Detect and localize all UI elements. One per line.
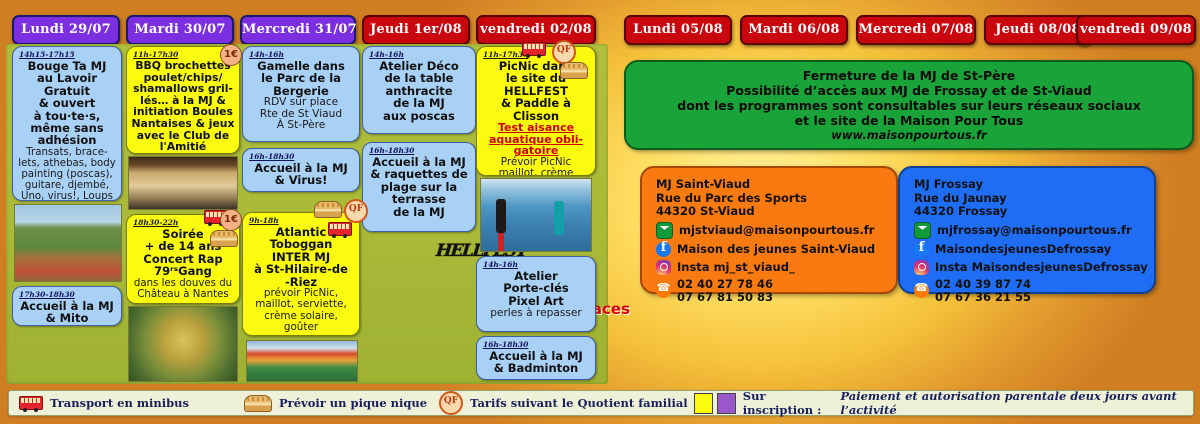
mail-icon (914, 222, 931, 239)
contact-phone-1: 02 40 39 87 74 (935, 278, 1031, 291)
day-chip-jeudi-1er08[interactable]: Jeudi 1er/08 (362, 15, 470, 45)
mail-icon (656, 222, 673, 239)
activity-subtitle: Transats, brace-lets, athebas, body pain… (16, 147, 118, 201)
contact-phone-2: 07 67 36 21 55 (935, 291, 1031, 304)
instagram-icon (914, 260, 929, 275)
activity-title: BBQ brochettes poulet/chips/ shamallows … (130, 60, 236, 153)
notice-line-4: et le site de la Maison Pour Tous (795, 113, 1024, 128)
contact-phone-1: 02 40 27 78 46 (677, 278, 773, 291)
closure-notice-panel: Fermeture de la MJ de St-Père Possibilit… (624, 60, 1194, 150)
contact-phone-row[interactable]: 02 40 39 87 74 07 67 36 21 55 (914, 278, 1154, 304)
activity-card-gamelle-bergerie[interactable]: 14h-16h Gamelle dans le Parc de la Berge… (242, 46, 360, 142)
activity-subtitle: dans les douves du Château à Nantes (130, 278, 236, 300)
picnic-sandwich-icon (560, 62, 588, 79)
contact-email-row[interactable]: mjfrossay@maisonpourtous.fr (914, 222, 1154, 239)
day-chip-mercredi-0708[interactable]: Mercredi 07/08 (856, 15, 976, 45)
day-chip-vendredi-0208[interactable]: vendredi 02/08 (476, 15, 596, 45)
facebook-icon (656, 242, 671, 257)
legend-qf-label: Tarifs suivant le Quotient familial (470, 396, 688, 410)
activity-time: 16h-18h30 (369, 146, 472, 155)
photo-paddle (480, 178, 592, 252)
activity-time: 16h-18h30 (249, 152, 356, 161)
day-chip-mardi-3007[interactable]: Mardi 30/07 (126, 15, 234, 45)
activity-time: 17h30-18h30 (19, 290, 118, 299)
legend-item-qf: QF Tarifs suivant le Quotient familial (439, 391, 688, 415)
activity-card-atelier-deco[interactable]: 14h-16h Atelier Déco de la table anthrac… (362, 46, 476, 134)
qf-badge-icon: QF (552, 40, 576, 64)
contact-card-mj-saint-viaud: MJ Saint-Viaud Rue du Parc des Sports 44… (640, 166, 898, 294)
activity-title: Atelier Déco de la table anthracite de l… (366, 60, 472, 122)
contact-instagram: Insta MaisondesjeunesDefrossay (935, 261, 1148, 274)
legend-inscription-label: Sur inscription : (743, 389, 837, 417)
activity-title: Gamelle dans le Parc de la Bergerie (246, 60, 356, 97)
qf-badge-icon: QF (439, 391, 463, 415)
poster-root: Lundi 29/07 Mardi 30/07 Mercredi 31/07 J… (0, 0, 1200, 424)
activity-subtitle: perles à repasser (480, 307, 592, 319)
day-chip-lundi-2907[interactable]: Lundi 29/07 (12, 15, 120, 45)
phone-icon (656, 283, 671, 298)
activity-title: Accueil à la MJ & raquettes de plage sur… (366, 156, 472, 218)
contact-name: MJ Saint-Viaud (656, 178, 896, 192)
phone-icon (914, 283, 929, 298)
photo-boules-nantaises (128, 156, 238, 210)
contact-instagram: Insta mj_st_viaud_ (677, 261, 795, 274)
contact-instagram-row[interactable]: Insta MaisondesjeunesDefrossay (914, 260, 1154, 275)
activity-card-bouge-ta-mj[interactable]: 14h15-17h15 Bouge Ta MJ au Lavoir Gratui… (12, 46, 122, 201)
contact-instagram-row[interactable]: Insta mj_st_viaud_ (656, 260, 896, 275)
contact-email-row[interactable]: mjstviaud@maisonpourtous.fr (656, 222, 896, 239)
legend-item-minibus: Transport en minibus (19, 396, 189, 410)
notice-line-1: Fermeture de la MJ de St-Père (803, 68, 1016, 83)
activity-title: Bouge Ta MJ au Lavoir Gratuit & ouvert à… (16, 60, 118, 147)
legend-item-picnic: Prévoir un pique nique (244, 395, 427, 412)
activity-time: 14h15-17h15 (19, 50, 118, 59)
day-header-bar: Lundi 29/07 Mardi 30/07 Mercredi 31/07 J… (0, 15, 1200, 45)
legend-picnic-label: Prévoir un pique nique (279, 396, 427, 410)
activity-card-accueil-mito[interactable]: 17h30-18h30 Accueil à la MJ & Mito (12, 286, 122, 326)
contact-name: MJ Frossay (914, 178, 1154, 192)
contact-facebook: Maison des jeunes Saint-Viaud (677, 243, 875, 256)
picnic-sandwich-icon (210, 230, 238, 247)
activity-card-accueil-virus[interactable]: 16h-18h30 Accueil à la MJ & Virus! (242, 148, 360, 192)
minibus-icon (522, 42, 546, 56)
contact-street: Rue du Jaunay (914, 192, 1154, 206)
legend-item-inscription: Sur inscription : Paiement et autorisati… (694, 389, 1193, 417)
yellow-swatch-icon (694, 393, 713, 414)
legend-inscription-text: Paiement et autorisation parentale deux … (840, 389, 1193, 417)
contact-phone-row[interactable]: 02 40 27 78 46 07 67 81 50 83 (656, 278, 896, 304)
picnic-sandwich-icon (244, 395, 272, 412)
contact-facebook-row[interactable]: Maison des jeunes Saint-Viaud (656, 242, 896, 257)
activity-title: Atelier Porte-clés Pixel Art (480, 270, 592, 307)
instagram-icon (656, 260, 671, 275)
contact-email: mjstviaud@maisonpourtous.fr (679, 224, 874, 237)
activity-card-accueil-raquettes[interactable]: 16h-18h30 Accueil à la MJ & raquettes de… (362, 142, 476, 232)
minibus-icon (328, 222, 352, 236)
minibus-icon (19, 396, 43, 410)
activity-card-accueil-badminton[interactable]: 16h-18h30 Accueil à la MJ & Badminton (476, 336, 596, 380)
activity-time: 16h-18h30 (483, 340, 592, 349)
activity-subtitle: RDV sur place Rte de St Viaud À St-Père (246, 97, 356, 132)
day-chip-mercredi-3107[interactable]: Mercredi 31/07 (240, 15, 356, 45)
activity-subtitle: prévoir PicNic, maillot, serviette, crèm… (246, 288, 356, 334)
contact-facebook-row[interactable]: MaisondesjeunesDefrossay (914, 242, 1154, 257)
activity-time: 14h-16h (369, 50, 472, 59)
activity-time: 14h-16h (483, 260, 592, 269)
legend-bar: Transport en minibus Prévoir un pique ni… (8, 390, 1194, 416)
qf-badge-icon: QF (344, 199, 368, 223)
activity-title: Accueil à la MJ & Virus! (246, 162, 356, 187)
contact-phone-2: 07 67 81 50 83 (677, 291, 773, 304)
activity-title: Accueil à la MJ & Mito (16, 300, 118, 325)
photo-chateau-nantes (128, 306, 238, 382)
schedule-grid: 14h15-17h15 Bouge Ta MJ au Lavoir Gratui… (6, 44, 608, 384)
notice-website-url[interactable]: www.maisonpourtous.fr (831, 128, 987, 143)
activity-time: 14h-16h (249, 50, 356, 59)
day-chip-mardi-0608[interactable]: Mardi 06/08 (740, 15, 848, 45)
contact-city: 44320 St-Viaud (656, 205, 896, 219)
contact-city: 44320 Frossay (914, 205, 1154, 219)
notice-line-3: dont les programmes sont consultables su… (677, 98, 1140, 113)
contact-facebook: MaisondesjeunesDefrossay (935, 243, 1111, 256)
photo-atlantic-toboggan (246, 340, 358, 382)
contact-email: mjfrossay@maisonpourtous.fr (937, 224, 1132, 237)
day-chip-vendredi-0908[interactable]: vendredi 09/08 (1076, 15, 1196, 45)
picnic-sandwich-icon (314, 201, 342, 218)
notice-line-2: Possibilité d’accès aux MJ de Frossay et… (726, 83, 1092, 98)
activity-card-porte-cles-pixel-art[interactable]: 14h-16h Atelier Porte-clés Pixel Art per… (476, 256, 596, 332)
activity-title: Accueil à la MJ & Badminton (480, 350, 592, 375)
photo-lavoir (14, 204, 122, 282)
contact-card-mj-frossay: MJ Frossay Rue du Jaunay 44320 Frossay m… (898, 166, 1156, 294)
activity-subtitle: Prévoir PicNic maillot, crème solaire… (480, 157, 592, 176)
euro-badge-icon: 1€ (220, 44, 242, 66)
facebook-icon (914, 242, 929, 257)
legend-minibus-label: Transport en minibus (50, 396, 189, 410)
purple-swatch-icon (717, 393, 736, 414)
day-chip-lundi-0508[interactable]: Lundi 05/08 (624, 15, 732, 45)
euro-badge-icon: 1€ (220, 209, 242, 231)
contact-street: Rue du Parc des Sports (656, 192, 896, 206)
activity-warning: Test aisance aquatique obli-gatoire (480, 122, 592, 157)
